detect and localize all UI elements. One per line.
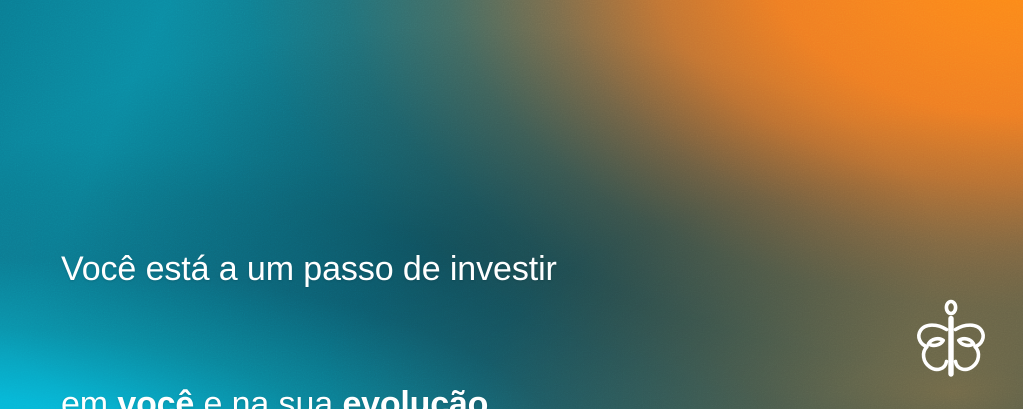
butterfly-left-wing [919, 325, 947, 369]
headline-line-1: Você está a um passo de investir [61, 247, 557, 292]
headline: Você está a um passo de investir em você… [61, 157, 557, 409]
butterfly-logo [915, 298, 987, 380]
headline-line-2: em você e na sua evolução. [61, 382, 557, 409]
butterfly-right-wing [956, 325, 984, 369]
headline-text-e-na-sua: e na sua [194, 385, 342, 409]
headline-text-em: em [61, 385, 117, 409]
headline-bold-voce: você [117, 385, 194, 409]
butterfly-left-leaf [929, 339, 944, 346]
butterfly-head [946, 302, 955, 314]
promo-banner: Você está a um passo de investir em você… [0, 0, 1023, 409]
headline-period: . [488, 385, 497, 409]
butterfly-right-leaf [959, 339, 974, 346]
headline-bold-evolucao: evolução [342, 385, 488, 409]
